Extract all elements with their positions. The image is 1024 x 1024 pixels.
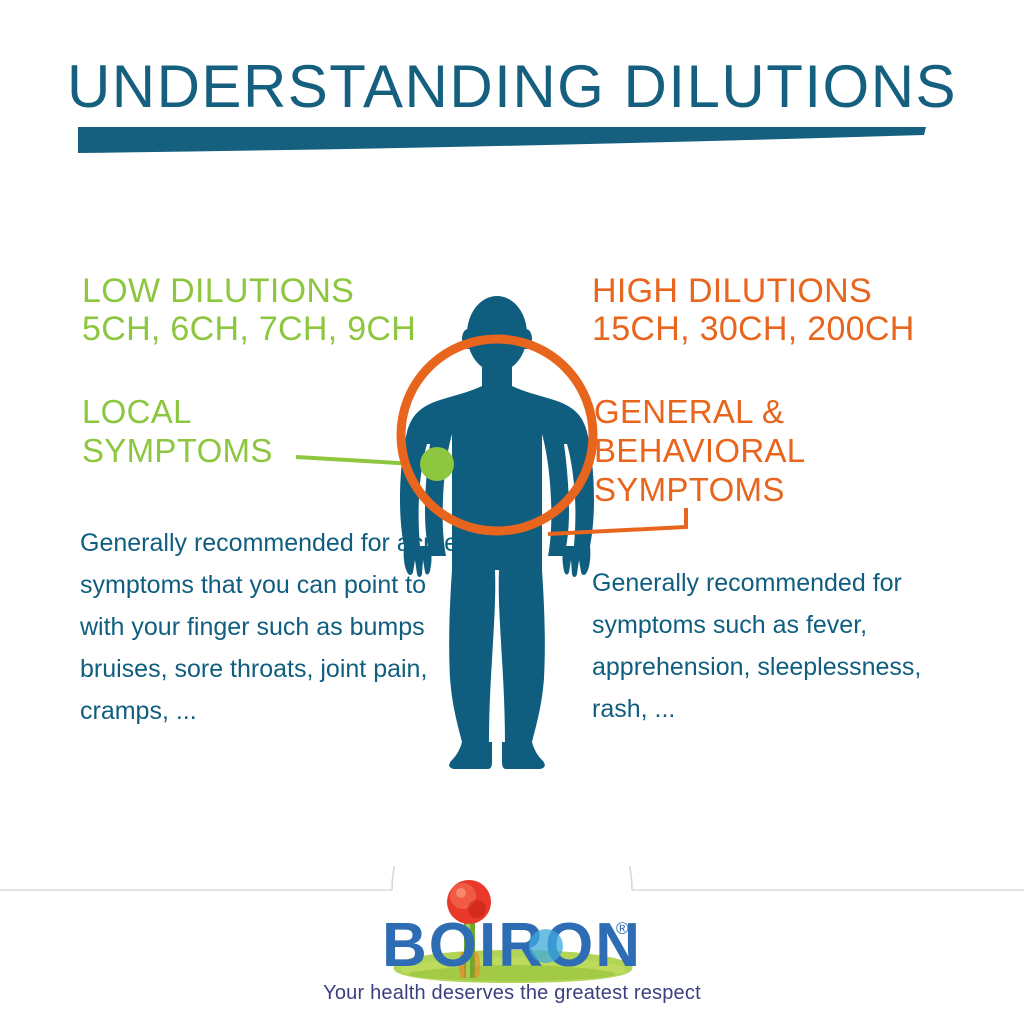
low-dilutions-heading-line2: 5CH, 6CH, 7CH, 9CH — [82, 310, 416, 348]
general-symptoms-line1: GENERAL & — [594, 392, 805, 431]
infographic-page: UNDERSTANDING DILUTIONS LOW DILUTIONS 5C… — [0, 0, 1024, 1024]
local-symptoms-subheading: LOCAL SYMPTOMS — [82, 392, 273, 470]
high-dilutions-heading-line2: 15CH, 30CH, 200CH — [592, 310, 915, 348]
low-dilutions-body-text: Generally recommended for acute symptoms… — [80, 522, 460, 732]
general-symptoms-circle — [401, 339, 593, 531]
general-symptoms-line3: SYMPTOMS — [594, 470, 805, 509]
svg-text:BOIRON: BOIRON — [382, 911, 642, 980]
local-symptoms-line1: LOCAL — [82, 392, 273, 431]
local-symptoms-line2: SYMPTOMS — [82, 431, 273, 470]
figure-ear-right — [520, 329, 532, 349]
general-symptoms-leader-line — [548, 508, 686, 534]
figure-hand-right — [563, 546, 591, 577]
figure-foot-right — [502, 742, 545, 769]
figure-head — [467, 296, 527, 372]
page-title: UNDERSTANDING DILUTIONS — [0, 52, 1024, 121]
general-symptoms-line2: BEHAVIORAL — [594, 431, 805, 470]
local-symptoms-dot-marker — [420, 447, 454, 481]
high-dilutions-heading-line1: HIGH DILUTIONS — [592, 272, 915, 310]
logo-wordmark: BOIRON ® — [382, 911, 642, 980]
logo-registered-trademark: ® — [616, 919, 629, 938]
general-symptoms-subheading: GENERAL & BEHAVIORAL SYMPTOMS — [594, 392, 805, 509]
logo-blue-circle-accent — [529, 929, 563, 963]
local-symptoms-leader-line — [296, 457, 432, 465]
figure-foot-left — [449, 742, 492, 769]
figure-ear-left — [462, 329, 474, 349]
low-dilutions-heading: LOW DILUTIONS 5CH, 6CH, 7CH, 9CH — [82, 272, 416, 348]
title-underline-wedge — [78, 126, 926, 162]
footer-divider-arc — [0, 866, 1024, 890]
high-dilutions-heading: HIGH DILUTIONS 15CH, 30CH, 200CH — [592, 272, 915, 348]
low-dilutions-heading-line1: LOW DILUTIONS — [82, 272, 416, 310]
figure-leg-right — [499, 570, 545, 742]
high-dilutions-body-text: Generally recommended for symptoms such … — [592, 562, 967, 730]
footer-tagline: Your health deserves the greatest respec… — [0, 982, 1024, 1005]
